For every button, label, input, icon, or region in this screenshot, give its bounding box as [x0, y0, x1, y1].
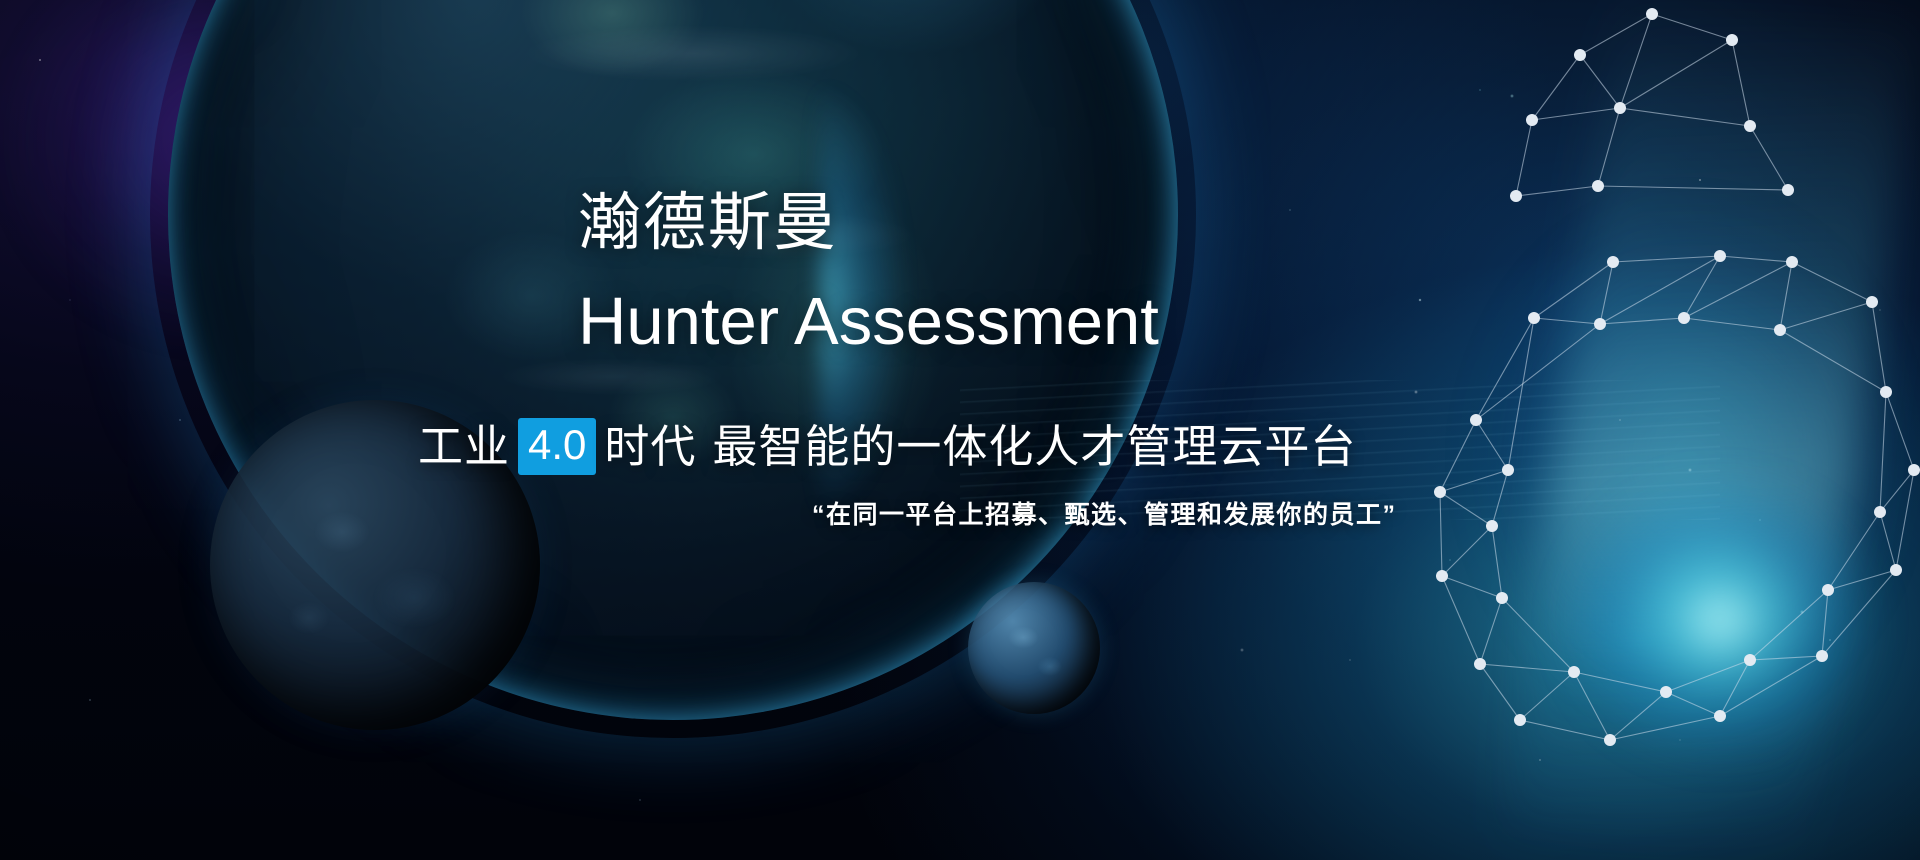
tagline-prefix: 工业 [418, 424, 510, 469]
tagline-middle: 时代 [604, 424, 696, 469]
tagline-quote: “在同一平台上招募、甄选、管理和发展你的员工” [812, 503, 1397, 528]
page-title-en: Hunter Assessment [578, 288, 1159, 355]
hero-copy: 瀚德斯曼 Hunter Assessment 工业 4.0 时代 最智能的一体化… [0, 0, 1920, 860]
tagline-suffix: 最智能的一体化人才管理云平台 [712, 424, 1356, 469]
industry-version-badge: 4.0 [518, 418, 596, 475]
tagline: 工业 4.0 时代 最智能的一体化人才管理云平台 [418, 418, 1356, 475]
hero-banner: 瀚德斯曼 Hunter Assessment 工业 4.0 时代 最智能的一体化… [0, 0, 1920, 860]
page-title-cn: 瀚德斯曼 [578, 192, 838, 255]
